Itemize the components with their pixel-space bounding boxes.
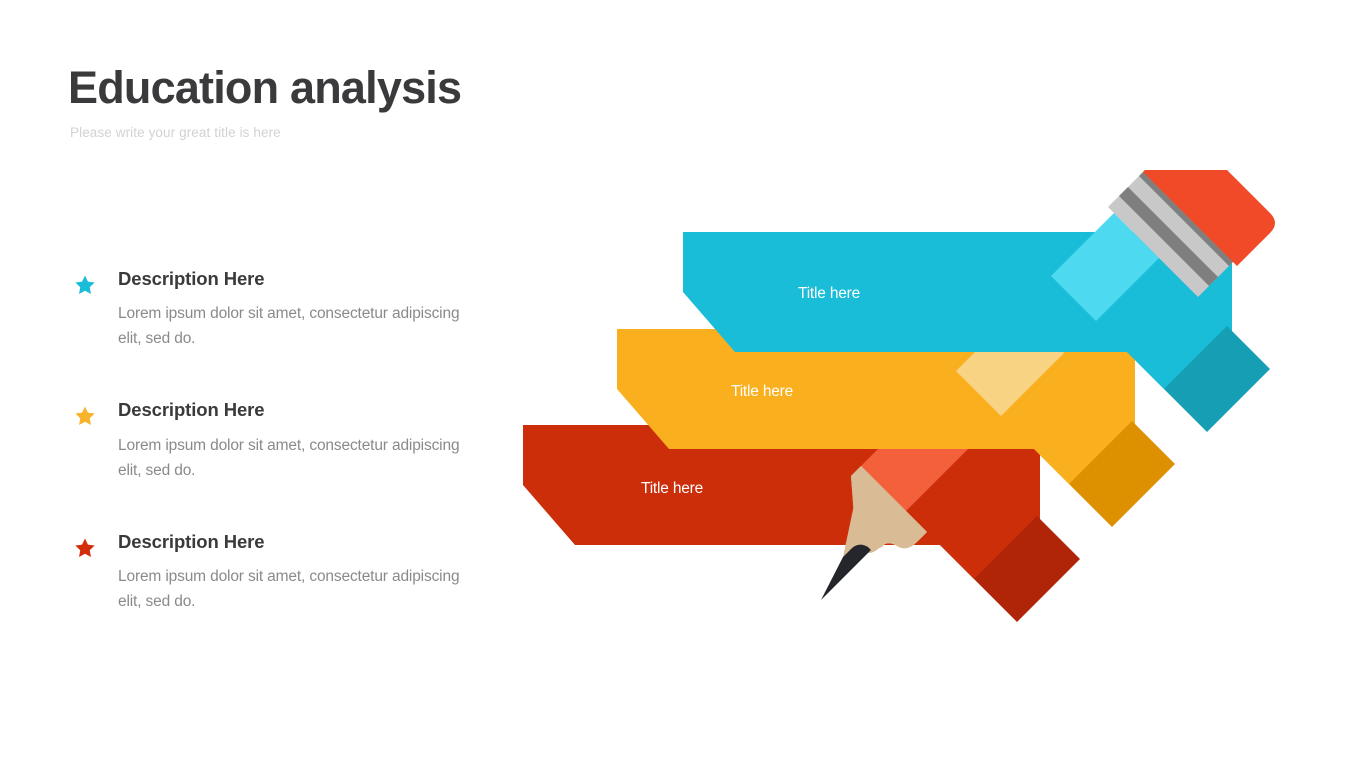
list-item-heading: Description Here: [118, 531, 498, 553]
list-item[interactable]: Description Here Lorem ipsum dolor sit a…: [68, 399, 498, 482]
list-item-heading: Description Here: [118, 399, 498, 421]
pencil-arrow-infographic: Title here Title here Title here: [480, 170, 1310, 640]
list-item-body: Lorem ipsum dolor sit amet, consectetur …: [118, 433, 478, 483]
list-item-body: Lorem ipsum dolor sit amet, consectetur …: [118, 564, 478, 614]
banner-label-yellow: Title here: [731, 383, 793, 400]
banner-label-cyan: Title here: [798, 285, 860, 302]
banner-label-red: Title here: [641, 480, 703, 497]
star-icon: [74, 537, 96, 559]
list-item-heading: Description Here: [118, 268, 498, 290]
page-subtitle: Please write your great title is here: [70, 125, 668, 140]
star-icon: [74, 405, 96, 427]
page-title: Education analysis: [68, 64, 668, 111]
star-icon: [74, 274, 96, 296]
list-item[interactable]: Description Here Lorem ipsum dolor sit a…: [68, 531, 498, 614]
list-item-body: Lorem ipsum dolor sit amet, consectetur …: [118, 301, 478, 351]
slide-header: Education analysis Please write your gre…: [68, 64, 668, 140]
list-item[interactable]: Description Here Lorem ipsum dolor sit a…: [68, 268, 498, 351]
description-list: Description Here Lorem ipsum dolor sit a…: [68, 268, 498, 614]
slide-canvas: Education analysis Please write your gre…: [0, 0, 1365, 768]
